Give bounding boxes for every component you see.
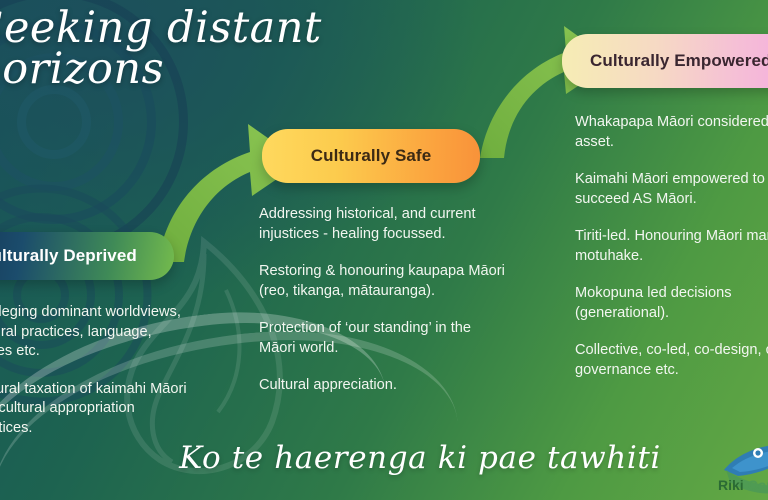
- stage-pill-empowered[interactable]: Culturally Empowered: [562, 34, 768, 88]
- list-item: Tiriti-led. Honouring Māori mana motuhak…: [575, 227, 768, 266]
- logo-name-secondary: Con: [748, 477, 768, 493]
- stage-points-deprived: Privileging dominant worldviews, cultura…: [0, 303, 220, 456]
- list-item: Whakapapa Māori considered an asset.: [575, 113, 768, 152]
- stage-pill-safe[interactable]: Culturally Safe: [262, 129, 480, 183]
- page-title: Seeking distant horizons: [0, 8, 334, 91]
- slide-canvas: Seeking distant horizons Culturally Depr…: [0, 0, 768, 500]
- list-item: Cultural appreciation.: [259, 376, 511, 396]
- list-item: Restoring & honouring kaupapa Māori (reo…: [259, 262, 511, 301]
- stage-points-safe: Addressing historical, and current injus…: [259, 205, 511, 414]
- stage-points-empowered: Whakapapa Māori considered an asset. Kai…: [575, 113, 768, 398]
- list-item: Collective, co-led, co-design, co-govern…: [575, 341, 768, 380]
- footer-caption: Ko te haerenga ki pae tawhiti: [160, 440, 680, 476]
- stage-pill-safe-label: Culturally Safe: [311, 146, 432, 166]
- list-item: Addressing historical, and current injus…: [259, 205, 511, 244]
- stage-pill-deprived-label: Culturally Deprived: [0, 246, 137, 266]
- list-item: Mokopuna led decisions (generational).: [575, 284, 768, 323]
- list-item: Cultural taxation of kaimahi Māori and c…: [0, 380, 220, 439]
- stage-pill-deprived[interactable]: Culturally Deprived: [0, 232, 174, 280]
- list-item: Privileging dominant worldviews, cultura…: [0, 303, 220, 362]
- logo-name-primary: Riki: [718, 477, 744, 493]
- stage-pill-empowered-label: Culturally Empowered: [590, 51, 768, 71]
- list-item: Protection of ‘our standing’ in the Māor…: [259, 319, 511, 358]
- logo-wordmark: Riki Con: [718, 477, 768, 493]
- list-item: Kaimahi Māori empowered to succeed AS Mā…: [575, 170, 768, 209]
